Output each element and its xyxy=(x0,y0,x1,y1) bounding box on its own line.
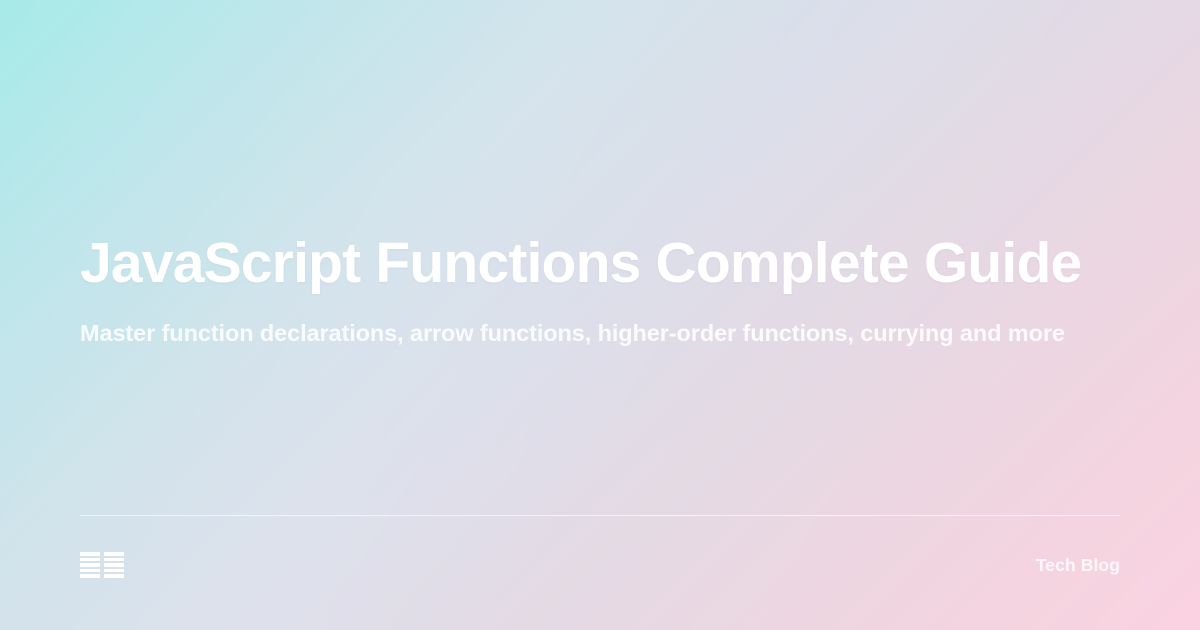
logo-bar xyxy=(104,563,124,567)
logo-bar xyxy=(80,569,100,573)
card-content: JavaScript Functions Complete Guide Mast… xyxy=(80,232,1120,352)
logo-bar xyxy=(104,558,124,562)
logo-bar xyxy=(80,552,100,556)
brand-name: Tech Blog xyxy=(1036,555,1120,576)
logo-bar xyxy=(104,552,124,556)
logo-column-right xyxy=(104,552,124,578)
logo-bar xyxy=(80,558,100,562)
footer-divider xyxy=(80,515,1120,516)
logo-bar xyxy=(80,563,100,567)
og-card: JavaScript Functions Complete Guide Mast… xyxy=(0,0,1200,630)
logo-column-left xyxy=(80,552,100,578)
page-title: JavaScript Functions Complete Guide xyxy=(80,232,1120,295)
list-bars-grid-icon xyxy=(80,552,124,578)
page-subtitle: Master function declarations, arrow func… xyxy=(80,316,1080,352)
logo-bar xyxy=(104,569,124,573)
card-footer: Tech Blog xyxy=(80,552,1120,578)
logo-bar xyxy=(104,574,124,578)
logo-bar xyxy=(80,574,100,578)
